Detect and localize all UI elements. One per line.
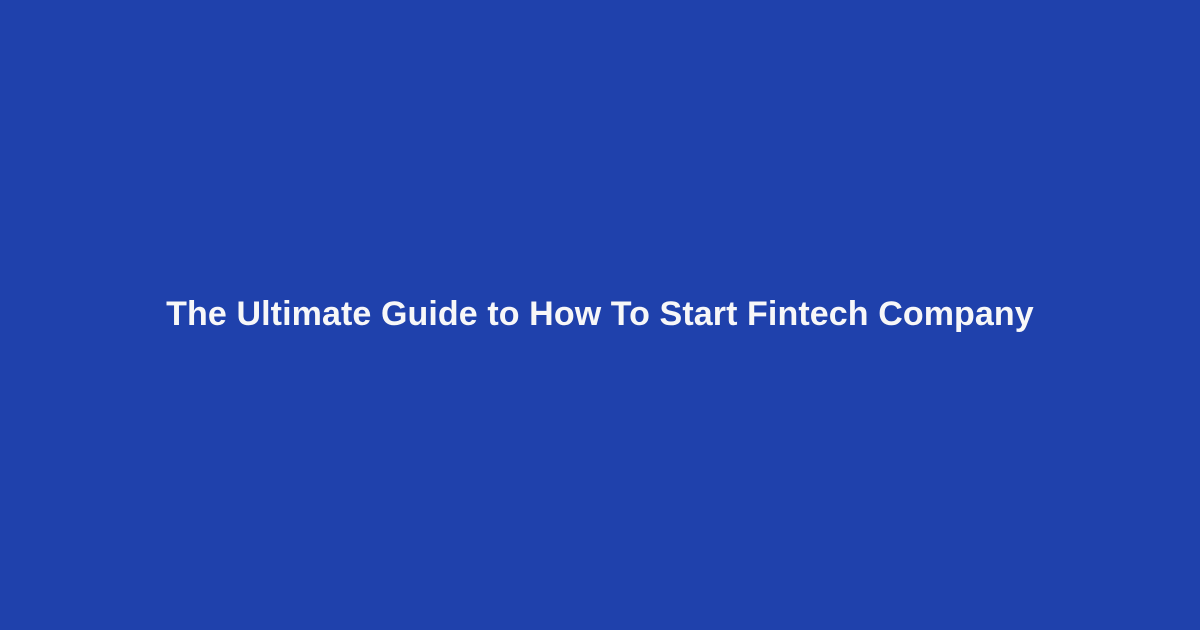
- page-title: The Ultimate Guide to How To Start Finte…: [166, 293, 1034, 337]
- social-share-card: The Ultimate Guide to How To Start Finte…: [0, 0, 1200, 630]
